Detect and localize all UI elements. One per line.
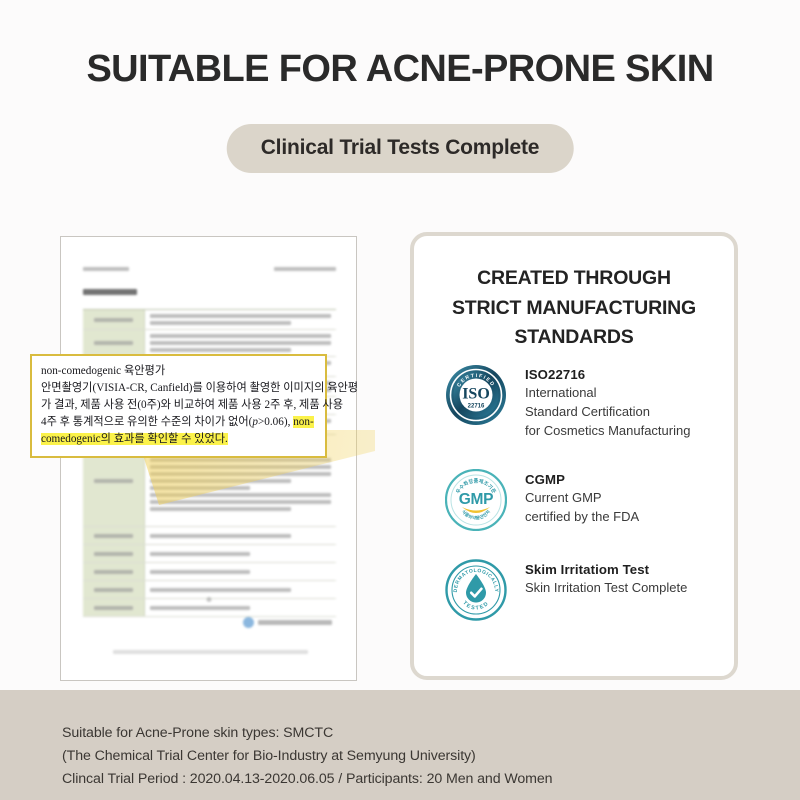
iso-certified-badge-icon: CERTIFIED ISO 22716 [445,364,507,426]
label-text [94,606,134,610]
table-label-cell [83,599,145,616]
table-row [83,310,336,330]
table-row [83,527,336,545]
cert-heading-line-3: STANDARDS [414,323,734,353]
cert-desc-line-2: certified by the FDA [525,508,639,527]
body-text [150,314,331,318]
cert-heading-line-1: CREATED THROUGH [414,264,734,294]
callout-highlight-comedogenic: comedogenic [41,433,101,445]
table-body-cell [145,545,336,562]
body-text [150,493,331,497]
table-body-cell [145,527,336,544]
body-text [150,500,331,504]
cert-heading-line-2: STRICT MANUFACTURING [414,294,734,324]
body-text [150,606,250,610]
body-text [150,588,291,592]
certifications-list: CERTIFIED ISO 22716 ISO22716 Internation… [445,364,717,621]
certifications-card: CREATED THROUGH STRICT MANUFACTURING STA… [410,232,738,680]
certification-text-cgmp: CGMP Current GMP certified by the FDA [525,469,639,527]
callout-line-4: 4주 후 통계적으로 유의한 수준의 차이가 없어(p>0.06), non- [41,414,316,431]
callout-line-3: 가 결과, 제품 사용 전(0주)와 비교하여 제품 사용 2주 후, 제품 사… [41,397,316,414]
clinical-document-image [60,236,357,681]
table-label-cell [83,563,145,580]
svg-text:ISO: ISO [462,386,490,403]
zoomed-text-callout: non-comedogenic 육안평가 안면촬영기(VISIA-CR, Can… [30,354,327,458]
clinical-trial-badge: Clinical Trial Tests Complete [227,124,574,173]
table-body-cell [145,581,336,598]
table-label-cell [83,527,145,544]
certification-item-skin-irritation: DERMATOLOGICALLY TESTED Skim Irritatiom … [445,559,717,621]
callout-line-4-pvalue: >0.06), [258,416,293,428]
cert-desc-line-2: Standard Certification [525,403,690,422]
svg-text:GMP: GMP [459,491,493,508]
cert-desc-line-3: for Cosmetics Manufacturing [525,422,690,441]
logo-text [258,620,332,625]
table-body-cell [145,310,336,329]
table-label-cell [83,310,145,329]
document-header-row [83,267,336,271]
certification-item-iso22716: CERTIFIED ISO 22716 ISO22716 Internation… [445,364,717,441]
label-text [94,341,134,345]
table-row [83,330,336,357]
certifications-heading: CREATED THROUGH STRICT MANUFACTURING STA… [414,264,734,353]
certification-text-skin-irritation: Skim Irritatiom Test Skin Irritation Tes… [525,559,687,598]
certification-name: ISO22716 [525,367,690,382]
certification-description: Current GMP certified by the FDA [525,489,639,527]
body-text [150,334,331,338]
body-text [150,552,250,556]
label-text [94,318,134,322]
certification-name: CGMP [525,472,639,487]
footer-line-3: Clincal Trial Period : 2020.04.13-2020.0… [62,768,552,791]
label-text [94,570,134,574]
cert-desc-line-1: Current GMP [525,489,639,508]
dermatologically-tested-badge-icon: DERMATOLOGICALLY TESTED [445,559,507,621]
body-text [150,479,291,483]
body-text [150,321,291,325]
label-text [94,479,134,483]
callout-line-2: 안면촬영기(VISIA-CR, Canfield)를 이용하여 촬영한 이미지의… [41,380,316,397]
document-page-mark [206,597,211,602]
callout-line-1: non-comedogenic 육안평가 [41,363,316,380]
document-footer-line [113,650,308,654]
table-body-cell [145,563,336,580]
callout-line-5: comedogenic의 효과를 확인할 수 있었다. [41,431,316,448]
cert-desc-line-1: Skin Irritation Test Complete [525,579,687,598]
body-text [150,570,250,574]
body-text [150,348,291,352]
document-header-left-text [83,267,129,271]
promo-page: SUITABLE FOR ACNE-PRONE SKIN Clinical Tr… [0,0,800,800]
label-text [94,534,134,538]
certification-text-iso22716: ISO22716 International Standard Certific… [525,364,690,441]
certification-name: Skim Irritatiom Test [525,562,687,577]
footer-caption: Suitable for Acne-Prone skin types: SMCT… [62,722,552,791]
table-body-cell [145,330,336,356]
body-text [150,534,291,538]
certification-description: Skin Irritation Test Complete [525,579,687,598]
logo-mark-icon [243,617,254,628]
table-row [83,563,336,581]
footer-line-1: Suitable for Acne-Prone skin types: SMCT… [62,722,552,745]
document-scan-content [61,237,356,680]
table-label-cell [83,545,145,562]
table-label-cell [83,581,145,598]
body-text [150,507,291,511]
table-row [83,545,336,563]
table-label-cell [83,330,145,356]
callout-highlight-non: non- [293,416,314,428]
page-title: SUITABLE FOR ACNE-PRONE SKIN [0,48,800,91]
svg-text:22716: 22716 [468,404,485,410]
document-institution-logo [243,617,332,628]
label-text [94,588,134,592]
body-text [150,341,331,345]
certification-description: International Standard Certification for… [525,384,690,441]
label-text [94,552,134,556]
body-text [150,465,331,469]
cert-desc-line-1: International [525,384,690,403]
body-text [150,486,250,490]
body-text [150,458,331,462]
document-section-title [83,289,137,295]
table-body-cell [145,599,336,616]
document-header-right-text [274,267,336,271]
callout-line-4-text: 4주 후 통계적으로 유의한 수준의 차이가 없어( [41,416,252,428]
callout-highlight-result: 의 효과를 확인할 수 있었다. [101,433,228,445]
certification-item-cgmp: 우수화장품제조기준 GMP 식품의약품안전처 CGMP Current GMP … [445,469,717,531]
body-text [150,472,331,476]
gmp-certified-badge-icon: 우수화장품제조기준 GMP 식품의약품안전처 [445,469,507,531]
footer-line-2: (The Chemical Trial Center for Bio-Indus… [62,745,552,768]
